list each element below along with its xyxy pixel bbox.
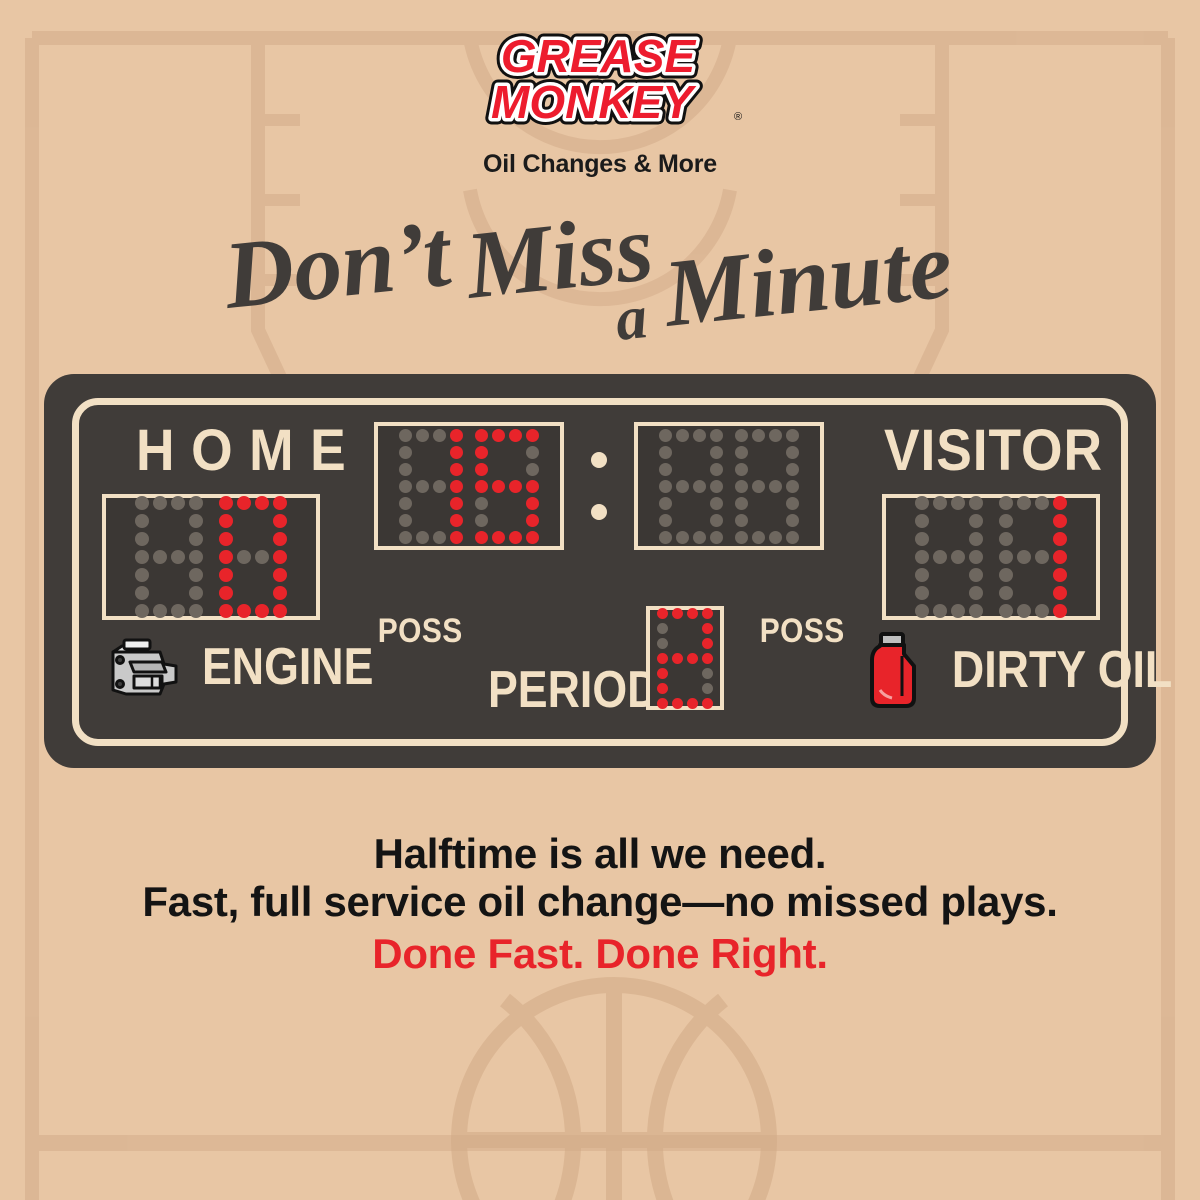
matrix-dot (153, 550, 167, 564)
matrix-dot (433, 429, 446, 442)
matrix-dot (769, 446, 782, 459)
matrix-dot (171, 496, 185, 510)
matrix-dot (735, 497, 748, 510)
home-poss-label: POSS (378, 614, 463, 648)
matrix-dot (702, 623, 713, 634)
matrix-dot (153, 496, 167, 510)
matrix-dot (672, 623, 683, 634)
matrix-dot (237, 496, 251, 510)
matrix-dot (915, 586, 929, 600)
matrix-dot (509, 463, 522, 476)
matrix-dot (687, 638, 698, 649)
logo-monkey-fill: MONKEY (491, 76, 697, 128)
matrix-dot (399, 463, 412, 476)
matrix-dot (786, 463, 799, 476)
matrix-dot (786, 531, 799, 544)
matrix-dot (416, 531, 429, 544)
matrix-dot (933, 532, 947, 546)
matrix-dot (1035, 550, 1049, 564)
matrix-dot (769, 497, 782, 510)
matrix-dot (969, 586, 983, 600)
brand-tagline: Oil Changes & More (0, 150, 1200, 179)
visitor-label: VISITOR (884, 422, 1103, 480)
clock-separator (584, 422, 614, 550)
home-status-label: ENGINE (202, 641, 373, 693)
matrix-dot (735, 446, 748, 459)
matrix-dot (915, 568, 929, 582)
promo-copy: Halftime is all we need. Fast, full serv… (0, 830, 1200, 978)
matrix-dot (687, 623, 698, 634)
matrix-dot (135, 514, 149, 528)
matrix-dot (676, 446, 689, 459)
headline-word-4: Minute (657, 210, 957, 347)
matrix-dot (273, 532, 287, 546)
matrix-dot (237, 532, 251, 546)
matrix-dot (915, 532, 929, 546)
matrix-digit (915, 496, 983, 618)
matrix-dot (475, 514, 488, 527)
matrix-dot (255, 496, 269, 510)
matrix-dot (492, 480, 505, 493)
promo-line-2: Fast, full service oil change—no missed … (0, 878, 1200, 926)
matrix-dot (999, 532, 1013, 546)
matrix-dot (693, 446, 706, 459)
logo-grease-fill: GREASE (501, 30, 697, 82)
matrix-dot (273, 550, 287, 564)
matrix-dot (189, 496, 203, 510)
matrix-dot (710, 480, 723, 493)
matrix-dot (273, 568, 287, 582)
matrix-dot (399, 514, 412, 527)
engine-block-icon (104, 636, 180, 698)
matrix-dot (1053, 604, 1067, 618)
matrix-dot (526, 497, 539, 510)
matrix-dot (951, 568, 965, 582)
matrix-dot (135, 550, 149, 564)
matrix-dot (710, 429, 723, 442)
matrix-dot (752, 497, 765, 510)
matrix-dot (999, 586, 1013, 600)
matrix-dot (219, 568, 233, 582)
matrix-dot (255, 586, 269, 600)
matrix-dot (526, 514, 539, 527)
matrix-dot (1017, 568, 1031, 582)
matrix-dot (189, 514, 203, 528)
matrix-dot (786, 480, 799, 493)
matrix-dot (509, 446, 522, 459)
matrix-dot (399, 446, 412, 459)
matrix-dot (237, 586, 251, 600)
matrix-dot (492, 463, 505, 476)
matrix-digit (735, 429, 799, 544)
matrix-digit (135, 496, 203, 618)
matrix-dot (399, 480, 412, 493)
matrix-dot (1017, 514, 1031, 528)
matrix-dot (672, 653, 683, 664)
matrix-dot (416, 446, 429, 459)
home-score-display[interactable] (102, 494, 320, 620)
visitor-status: DIRTY OIL (864, 630, 1190, 710)
matrix-dot (416, 463, 429, 476)
matrix-dot (969, 532, 983, 546)
matrix-dot (492, 531, 505, 544)
matrix-dot (693, 463, 706, 476)
matrix-dot (735, 514, 748, 527)
matrix-dot (710, 446, 723, 459)
matrix-dot (693, 514, 706, 527)
matrix-dot (969, 496, 983, 510)
matrix-dot (752, 446, 765, 459)
matrix-dot (1035, 514, 1049, 528)
matrix-dot (189, 568, 203, 582)
grease-monkey-wordmark: GREASE GREASE GREASE MONKEY MONKEY MONKE… (440, 26, 760, 146)
matrix-dot (1017, 550, 1031, 564)
matrix-dot (769, 480, 782, 493)
matrix-digit (657, 608, 713, 709)
matrix-dot (255, 532, 269, 546)
matrix-dot (509, 497, 522, 510)
period-label: PERIOD (488, 664, 659, 716)
matrix-dot (1017, 532, 1031, 546)
matrix-dot (171, 550, 185, 564)
matrix-dot (769, 514, 782, 527)
matrix-dot (702, 668, 713, 679)
matrix-dot (509, 514, 522, 527)
matrix-dot (450, 446, 463, 459)
matrix-dot (693, 497, 706, 510)
matrix-dot (255, 550, 269, 564)
matrix-dot (416, 497, 429, 510)
matrix-dot (219, 586, 233, 600)
matrix-dot (933, 550, 947, 564)
matrix-dot (951, 604, 965, 618)
matrix-dot (969, 604, 983, 618)
matrix-dot (769, 463, 782, 476)
matrix-dot (752, 531, 765, 544)
matrix-dot (189, 550, 203, 564)
matrix-dot (659, 497, 672, 510)
matrix-dot (1017, 604, 1031, 618)
matrix-dot (433, 446, 446, 459)
matrix-dot (676, 497, 689, 510)
matrix-dot (526, 446, 539, 459)
visitor-score-display[interactable] (882, 494, 1100, 620)
visitor-poss-label: POSS (760, 614, 845, 648)
matrix-dot (450, 497, 463, 510)
matrix-dot (969, 568, 983, 582)
matrix-dot (135, 604, 149, 618)
matrix-dot (237, 568, 251, 582)
matrix-dot (475, 531, 488, 544)
matrix-dot (915, 604, 929, 618)
matrix-dot (687, 608, 698, 619)
matrix-dot (153, 604, 167, 618)
clock-minutes-matrix (399, 429, 539, 544)
matrix-dot (1053, 586, 1067, 600)
matrix-dot (219, 514, 233, 528)
clock-seconds-display[interactable] (634, 422, 824, 550)
matrix-dot (969, 514, 983, 528)
matrix-dot (273, 514, 287, 528)
matrix-dot (687, 698, 698, 709)
matrix-dot (676, 514, 689, 527)
matrix-dot (659, 446, 672, 459)
matrix-dot (237, 604, 251, 618)
matrix-dot (219, 532, 233, 546)
matrix-dot (915, 496, 929, 510)
matrix-dot (710, 531, 723, 544)
matrix-dot (171, 568, 185, 582)
matrix-dot (786, 429, 799, 442)
matrix-dot (135, 568, 149, 582)
matrix-dot (399, 531, 412, 544)
matrix-dot (153, 568, 167, 582)
matrix-dot (450, 480, 463, 493)
matrix-dot (687, 668, 698, 679)
headline-word-1: Don’t (218, 208, 458, 329)
matrix-dot (153, 586, 167, 600)
matrix-dot (657, 653, 668, 664)
matrix-dot (687, 683, 698, 694)
matrix-dot (492, 497, 505, 510)
matrix-dot (951, 496, 965, 510)
matrix-dot (153, 532, 167, 546)
matrix-dot (433, 514, 446, 527)
matrix-dot (933, 496, 947, 510)
matrix-dot (1035, 496, 1049, 510)
matrix-dot (416, 480, 429, 493)
matrix-dot (933, 514, 947, 528)
matrix-dot (450, 514, 463, 527)
home-score-matrix (135, 496, 287, 618)
matrix-dot (676, 463, 689, 476)
matrix-dot (237, 550, 251, 564)
visitor-status-label: DIRTY OIL (952, 644, 1172, 696)
matrix-dot (1053, 532, 1067, 546)
home-status: ENGINE (104, 636, 387, 698)
registered-mark-icon: ® (734, 111, 742, 123)
matrix-dot (915, 514, 929, 528)
matrix-dot (526, 429, 539, 442)
matrix-dot (1053, 568, 1067, 582)
clock-seconds-matrix (659, 429, 799, 544)
matrix-dot (933, 604, 947, 618)
matrix-dot (672, 668, 683, 679)
matrix-dot (135, 496, 149, 510)
matrix-digit (659, 429, 723, 544)
matrix-dot (657, 698, 668, 709)
matrix-dot (735, 463, 748, 476)
matrix-dot (219, 604, 233, 618)
matrix-dot (1017, 586, 1031, 600)
matrix-dot (951, 514, 965, 528)
headline: Don’t Miss a Minute (0, 208, 1200, 358)
matrix-dot (255, 514, 269, 528)
period-display[interactable] (646, 606, 724, 710)
matrix-dot (933, 568, 947, 582)
matrix-dot (1053, 514, 1067, 528)
matrix-dot (702, 683, 713, 694)
matrix-dot (676, 429, 689, 442)
matrix-dot (237, 514, 251, 528)
matrix-dot (735, 480, 748, 493)
matrix-dot (693, 429, 706, 442)
promo-line-1: Halftime is all we need. (0, 830, 1200, 878)
matrix-dot (1035, 586, 1049, 600)
matrix-dot (1035, 604, 1049, 618)
matrix-dot (999, 496, 1013, 510)
clock-minutes-display[interactable] (374, 422, 564, 550)
matrix-dot (672, 683, 683, 694)
matrix-dot (702, 653, 713, 664)
matrix-dot (659, 429, 672, 442)
matrix-dot (657, 683, 668, 694)
period-matrix (657, 608, 713, 709)
matrix-digit (219, 496, 287, 618)
matrix-dot (769, 429, 782, 442)
matrix-dot (710, 514, 723, 527)
matrix-dot (433, 463, 446, 476)
matrix-dot (657, 608, 668, 619)
matrix-dot (475, 446, 488, 459)
matrix-dot (135, 586, 149, 600)
matrix-dot (951, 586, 965, 600)
matrix-dot (786, 446, 799, 459)
matrix-dot (786, 514, 799, 527)
scoreboard: HOME ENGINE (44, 374, 1156, 768)
matrix-dot (999, 550, 1013, 564)
matrix-dot (475, 463, 488, 476)
matrix-dot (171, 586, 185, 600)
matrix-dot (492, 446, 505, 459)
matrix-dot (433, 497, 446, 510)
matrix-dot (786, 497, 799, 510)
matrix-dot (171, 532, 185, 546)
matrix-dot (416, 429, 429, 442)
matrix-dot (433, 480, 446, 493)
matrix-dot (1035, 532, 1049, 546)
matrix-dot (1035, 568, 1049, 582)
matrix-dot (752, 463, 765, 476)
matrix-dot (702, 638, 713, 649)
matrix-dot (693, 480, 706, 493)
matrix-dot (171, 604, 185, 618)
matrix-dot (659, 531, 672, 544)
matrix-dot (933, 586, 947, 600)
matrix-dot (693, 531, 706, 544)
matrix-dot (450, 429, 463, 442)
matrix-digit (999, 496, 1067, 618)
matrix-dot (255, 604, 269, 618)
matrix-dot (1053, 496, 1067, 510)
visitor-score-matrix (915, 496, 1067, 618)
matrix-dot (255, 568, 269, 582)
matrix-dot (999, 568, 1013, 582)
matrix-dot (999, 514, 1013, 528)
matrix-dot (951, 550, 965, 564)
matrix-dot (752, 429, 765, 442)
headline-script: Don’t Miss a Minute (0, 208, 1200, 358)
matrix-dot (659, 514, 672, 527)
matrix-dot (219, 496, 233, 510)
matrix-dot (1053, 550, 1067, 564)
matrix-dot (951, 532, 965, 546)
matrix-dot (509, 531, 522, 544)
matrix-digit (475, 429, 539, 544)
matrix-dot (659, 463, 672, 476)
matrix-dot (752, 514, 765, 527)
matrix-dot (433, 531, 446, 544)
matrix-dot (450, 531, 463, 544)
matrix-dot (450, 463, 463, 476)
matrix-dot (659, 480, 672, 493)
matrix-dot (399, 497, 412, 510)
matrix-dot (657, 668, 668, 679)
matrix-dot (676, 480, 689, 493)
matrix-dot (135, 532, 149, 546)
matrix-dot (189, 532, 203, 546)
promo-line-3: Done Fast. Done Right. (0, 930, 1200, 978)
matrix-dot (915, 550, 929, 564)
matrix-dot (752, 480, 765, 493)
matrix-dot (676, 531, 689, 544)
matrix-dot (657, 623, 668, 634)
matrix-dot (969, 550, 983, 564)
matrix-dot (526, 480, 539, 493)
home-label: HOME (136, 422, 362, 480)
matrix-digit (399, 429, 463, 544)
oil-bottle-icon (864, 630, 926, 710)
matrix-dot (273, 604, 287, 618)
matrix-dot (735, 531, 748, 544)
matrix-dot (475, 429, 488, 442)
matrix-dot (219, 550, 233, 564)
matrix-dot (672, 698, 683, 709)
matrix-dot (189, 604, 203, 618)
matrix-dot (710, 497, 723, 510)
matrix-dot (657, 638, 668, 649)
matrix-dot (526, 531, 539, 544)
matrix-dot (153, 514, 167, 528)
matrix-dot (399, 429, 412, 442)
matrix-dot (702, 698, 713, 709)
matrix-dot (672, 608, 683, 619)
matrix-dot (672, 638, 683, 649)
matrix-dot (475, 497, 488, 510)
matrix-dot (735, 429, 748, 442)
matrix-dot (492, 514, 505, 527)
matrix-dot (999, 604, 1013, 618)
matrix-dot (273, 496, 287, 510)
matrix-dot (171, 514, 185, 528)
matrix-dot (189, 586, 203, 600)
matrix-dot (1017, 496, 1031, 510)
matrix-dot (273, 586, 287, 600)
brand-logo: GREASE GREASE GREASE MONKEY MONKEY MONKE… (0, 26, 1200, 179)
matrix-dot (509, 480, 522, 493)
matrix-dot (509, 429, 522, 442)
matrix-dot (769, 531, 782, 544)
matrix-dot (687, 653, 698, 664)
matrix-dot (416, 514, 429, 527)
matrix-dot (492, 429, 505, 442)
matrix-dot (702, 608, 713, 619)
matrix-dot (475, 480, 488, 493)
matrix-dot (526, 463, 539, 476)
matrix-dot (710, 463, 723, 476)
